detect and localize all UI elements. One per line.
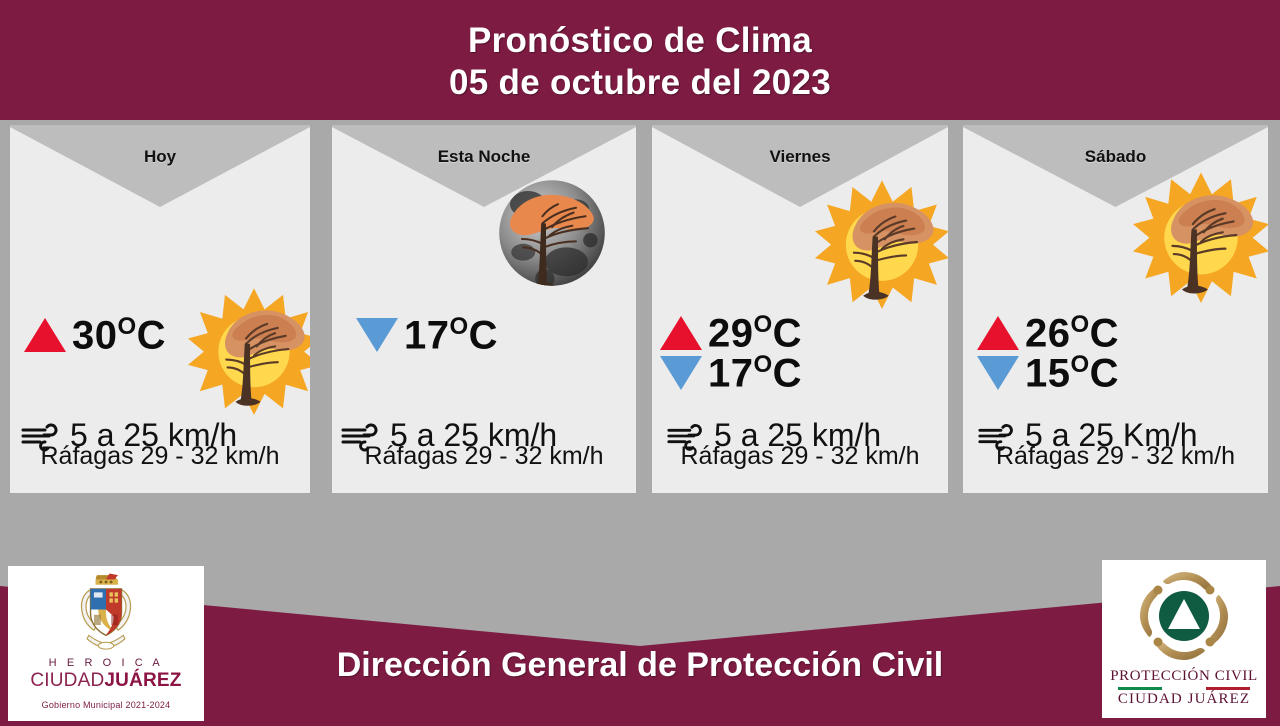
gusts-value: Ráfagas 29 - 32 km/h — [652, 442, 948, 471]
high-temp-row: 30OC — [24, 315, 166, 355]
high-temp-row: 29OC — [660, 313, 802, 353]
logo-heroica-text: H E R O I C A — [49, 657, 164, 669]
proteccion-civil-emblem-icon — [1134, 566, 1234, 666]
logo-proteccion-civil-text: PROTECCIÓN CIVIL — [1110, 668, 1258, 685]
page-date: 05 de octubre del 2023 — [449, 64, 831, 102]
infographic-root: Pronóstico de Clima 05 de octubre del 20… — [0, 0, 1280, 726]
header-banner: Pronóstico de Clima 05 de octubre del 20… — [0, 0, 1280, 120]
temp-up-arrow-icon — [660, 316, 702, 350]
card-temperatures: 26OC 15OC — [963, 313, 1268, 394]
sun-with-tree-icon — [815, 175, 948, 309]
logo-ciudad-juarez-subtext: CIUDAD JUÁREZ — [1118, 691, 1250, 708]
high-temp-value: 26OC — [1025, 313, 1119, 353]
temp-down-arrow-icon — [660, 356, 702, 390]
low-temp-value: 17OC — [708, 353, 802, 393]
low-temp-row: 15OC — [977, 353, 1119, 393]
gusts-value: Ráfagas 29 - 32 km/h — [963, 442, 1268, 471]
card-temperatures: 29OC 17OC — [652, 313, 948, 394]
temp-up-arrow-icon — [24, 318, 66, 352]
card-temperatures: 30OC — [10, 315, 310, 355]
coat-of-arms-icon — [63, 570, 149, 656]
logo-color-bars — [1118, 687, 1250, 690]
low-temp-row: 17OC — [356, 315, 498, 355]
forecast-card-hoy[interactable]: Hoy — [10, 125, 310, 493]
gusts-value: Ráfagas 29 - 32 km/h — [332, 442, 636, 471]
high-temp-row: 26OC — [977, 313, 1119, 353]
low-temp-row: 17OC — [660, 353, 802, 393]
forecast-card-strip: Hoy — [0, 120, 1280, 498]
card-day-label: Hoy — [10, 125, 310, 167]
logo-ciudad-juarez-text: CIUDADJUÁREZ — [30, 670, 181, 692]
card-day-label: Sábado — [963, 125, 1268, 167]
high-temp-value: 29OC — [708, 313, 802, 353]
temp-up-arrow-icon — [977, 316, 1019, 350]
temp-down-arrow-icon — [356, 318, 398, 352]
card-day-label: Esta Noche — [332, 125, 636, 167]
gusts-value: Ráfagas 29 - 32 km/h — [10, 442, 310, 471]
logo-gobierno-text: Gobierno Municipal 2021-2024 — [42, 700, 171, 710]
sun-with-tree-icon — [1133, 167, 1268, 303]
page-title: Pronóstico de Clima — [468, 22, 812, 60]
card-day-label: Viernes — [652, 125, 948, 167]
low-temp-value: 17OC — [404, 315, 498, 355]
high-temp-value: 30OC — [72, 315, 166, 355]
heroica-ciudad-juarez-logo: H E R O I C A CIUDADJUÁREZ Gobierno Muni… — [8, 566, 204, 721]
low-temp-value: 15OC — [1025, 353, 1119, 393]
forecast-card-esta-noche[interactable]: Esta Noche — [332, 125, 636, 493]
temp-down-arrow-icon — [977, 356, 1019, 390]
proteccion-civil-logo: PROTECCIÓN CIVIL CIUDAD JUÁREZ — [1102, 560, 1266, 718]
footer-banner: Dirección General de Protección Civil — [0, 498, 1280, 726]
forecast-card-viernes[interactable]: Viernes — [652, 125, 948, 493]
card-temperatures: 17OC — [332, 315, 636, 355]
forecast-card-sabado[interactable]: Sábado — [963, 125, 1268, 493]
moon-with-tree-icon — [492, 173, 612, 293]
